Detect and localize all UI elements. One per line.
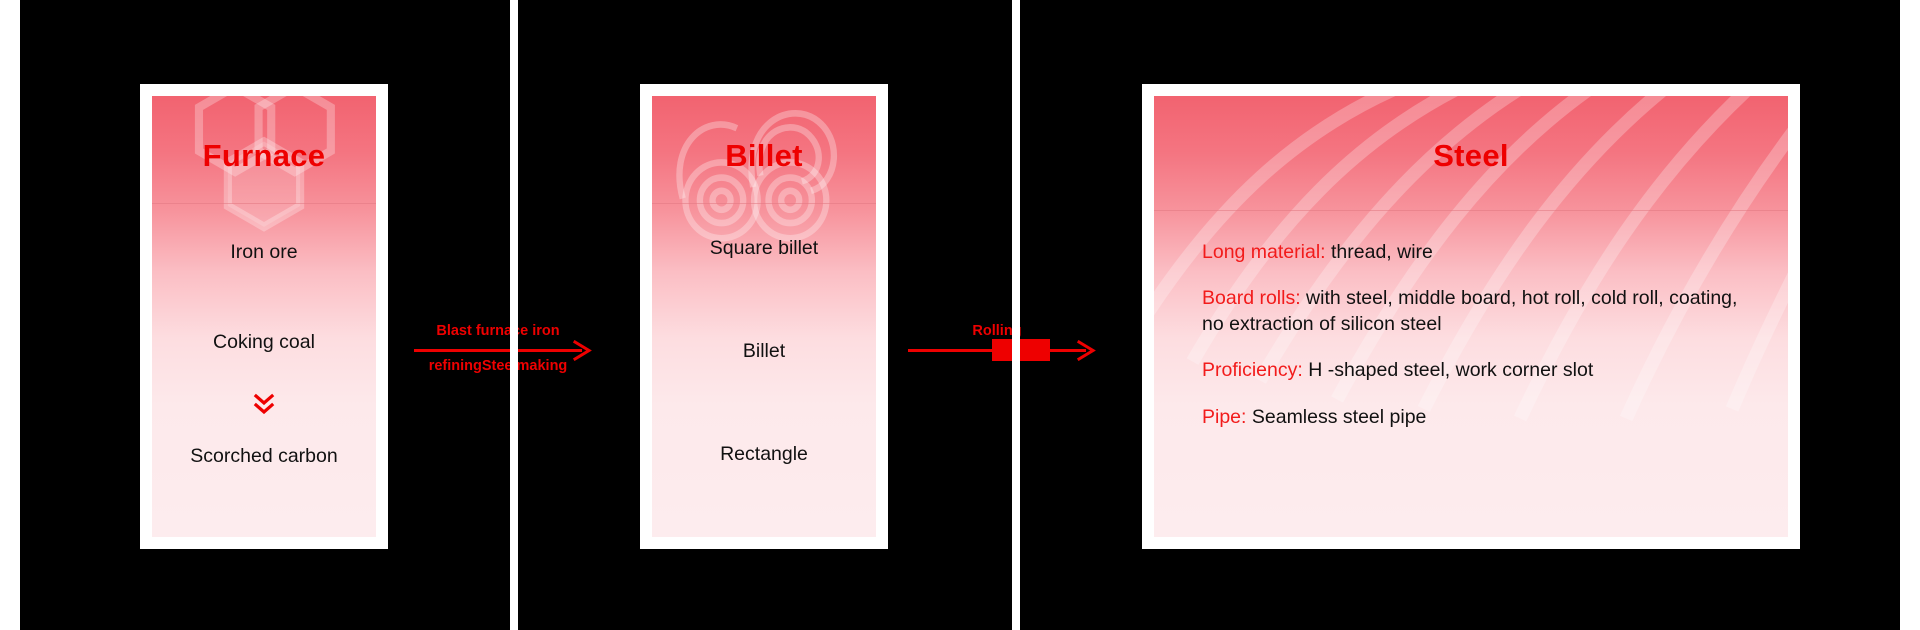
section-divider-left — [510, 0, 518, 630]
steel-line-2-text: H -shaped steel, work corner slot — [1303, 359, 1593, 381]
stage-card-steel[interactable]: Steel Long material: thread, wire Board … — [1142, 84, 1800, 549]
steel-line-3-text: Seamless steel pipe — [1246, 406, 1426, 428]
steel-line-2-label: Proficiency: — [1202, 359, 1303, 381]
arrow-2-head-icon — [1076, 340, 1098, 361]
billet-body: Square billet Billet Rectangle — [652, 203, 876, 537]
stage-card-billet[interactable]: Billet Square billet Billet Rectangle — [640, 84, 888, 549]
arrow-1-line — [414, 349, 582, 352]
slide-canvas: Furnace Iron ore Coking coal Scorched ca… — [0, 0, 1920, 630]
billet-title: Billet — [652, 138, 876, 174]
billet-card-surface: Billet Square billet Billet Rectangle — [652, 96, 876, 537]
arrow-1-label-below: refiningSteelmaking — [414, 358, 582, 374]
furnace-title: Furnace — [152, 138, 376, 174]
arrow-billet-to-steel: Rolling — [908, 310, 1104, 390]
steel-line-0: Long material: thread, wire — [1202, 239, 1762, 265]
steel-line-3-label: Pipe: — [1202, 406, 1246, 428]
furnace-body: Iron ore Coking coal Scorched carbon — [152, 203, 376, 537]
steel-line-2: Proficiency: H -shaped steel, work corne… — [1202, 357, 1762, 383]
furnace-card-surface: Furnace Iron ore Coking coal Scorched ca… — [152, 96, 376, 537]
steel-line-1: Board rolls: with steel, middle board, h… — [1202, 285, 1762, 337]
steel-title: Steel — [1154, 138, 1788, 174]
arrow-furnace-to-billet: Blast furnace iron refiningSteelmaking — [414, 310, 600, 390]
steel-line-0-text: thread, wire — [1326, 241, 1433, 263]
arrow-1-label-above: Blast furnace iron — [414, 323, 582, 339]
steel-line-1-label: Board rolls: — [1202, 287, 1301, 309]
billet-item-2: Rectangle — [652, 443, 876, 466]
furnace-item-2: Scorched carbon — [152, 445, 376, 468]
steel-card-surface: Steel Long material: thread, wire Board … — [1154, 96, 1788, 537]
steel-line-3: Pipe: Seamless steel pipe — [1202, 404, 1762, 430]
stage-card-furnace[interactable]: Furnace Iron ore Coking coal Scorched ca… — [140, 84, 388, 549]
furnace-item-0: Iron ore — [152, 241, 376, 264]
double-chevron-down-icon — [152, 391, 376, 417]
rolling-block-marker — [992, 339, 1050, 361]
steel-line-0-label: Long material: — [1202, 241, 1326, 263]
section-divider-right — [1012, 0, 1020, 630]
arrow-2-label-above: Rolling — [908, 323, 1086, 339]
billet-item-0: Square billet — [652, 237, 876, 260]
steel-body: Long material: thread, wire Board rolls:… — [1202, 210, 1762, 537]
furnace-item-1: Coking coal — [152, 331, 376, 354]
billet-item-1: Billet — [652, 340, 876, 363]
